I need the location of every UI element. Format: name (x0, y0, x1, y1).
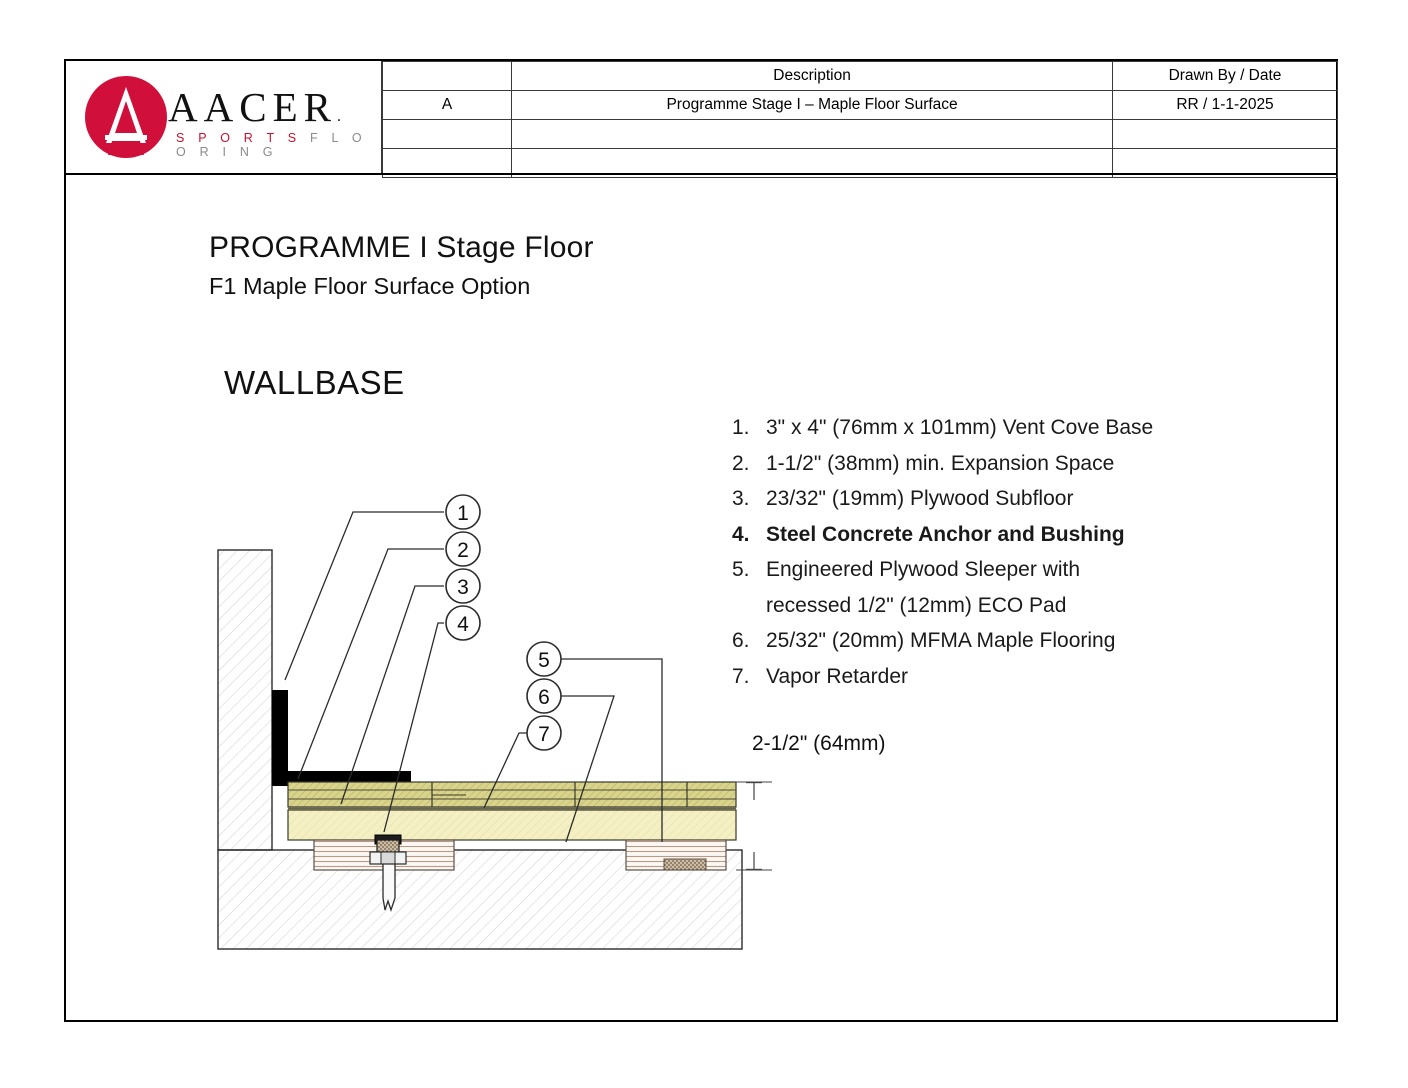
cell-description: Programme Stage I – Maple Floor Surface (512, 91, 1113, 120)
vent-cove-base (272, 690, 411, 786)
callout-bubble-4[interactable]: 4 (446, 606, 480, 640)
drawing-sheet: AACER. S P O R T S F L O O R I N G Descr… (64, 59, 1338, 1022)
callout-bubble-2[interactable]: 2 (446, 532, 480, 566)
wall-section (218, 550, 272, 850)
table-header-row: Description Drawn By / Date (383, 62, 1338, 91)
cell-description (512, 120, 1113, 149)
aacer-logo: AACER. S P O R T S F L O O R I N G (84, 73, 374, 163)
callout-bubble-5[interactable]: 5 (527, 642, 561, 676)
svg-text:6: 6 (538, 686, 550, 709)
cell-drawn-by (1113, 120, 1338, 149)
header-rev (383, 62, 512, 91)
cell-drawn-by: RR / 1-1-2025 (1113, 91, 1338, 120)
logo-cell: AACER. S P O R T S F L O O R I N G (66, 61, 382, 174)
svg-text:2: 2 (457, 539, 469, 562)
cell-rev (383, 120, 512, 149)
callout-bubble-6[interactable]: 6 (527, 679, 561, 713)
callout-bubbles: 1 2 3 4 5 6 7 (446, 495, 561, 750)
cell-rev: A (383, 91, 512, 120)
header-drawn-by: Drawn By / Date (1113, 62, 1338, 91)
revision-table: Description Drawn By / Date A Programme … (382, 61, 1338, 178)
dimension-label: 2-1/2" (64mm) (752, 732, 886, 756)
svg-text:3: 3 (457, 576, 469, 599)
header-description: Description (512, 62, 1113, 91)
logo-trademark: . (337, 108, 341, 125)
table-row (383, 120, 1338, 149)
aacer-a-logo-icon (84, 75, 168, 159)
callout-bubble-1[interactable]: 1 (446, 495, 480, 529)
svg-text:5: 5 (538, 649, 550, 672)
title-block: AACER. S P O R T S F L O O R I N G Descr… (66, 61, 1336, 174)
wallbase-section-drawing: 1 2 3 4 5 6 7 (66, 174, 1340, 1022)
logo-sub-sports: S P O R T S (176, 131, 301, 145)
logo-wordmark: AACER. (168, 85, 373, 129)
logo-subtitle: S P O R T S F L O O R I N G (176, 131, 376, 159)
maple-flooring-layer (288, 782, 736, 807)
svg-text:1: 1 (457, 502, 469, 525)
table-row: A Programme Stage I – Maple Floor Surfac… (383, 91, 1338, 120)
callout-bubble-3[interactable]: 3 (446, 569, 480, 603)
callout-bubble-7[interactable]: 7 (527, 716, 561, 750)
svg-text:4: 4 (457, 613, 469, 636)
plywood-subfloor-layer (288, 810, 736, 840)
plywood-sleeper-right (626, 840, 726, 870)
svg-text:7: 7 (538, 723, 550, 746)
